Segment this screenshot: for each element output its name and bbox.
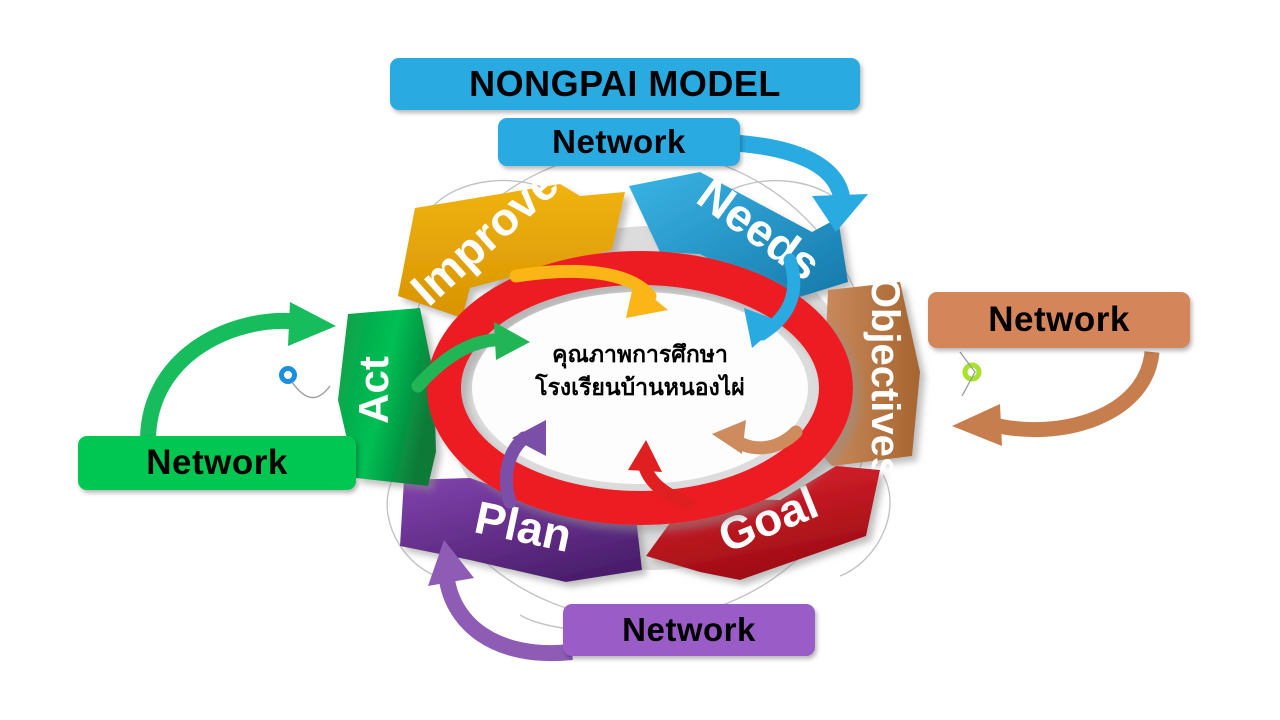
network-label-right[interactable]: Network — [928, 292, 1190, 348]
network-left-marker-dot — [282, 369, 295, 382]
network-label-bottom[interactable]: Network — [563, 604, 815, 656]
nongpai-model-diagram: Improve Needs Objectives Goal Plan Act — [0, 0, 1280, 720]
network-bottom-connector — [428, 540, 572, 653]
network-label-left[interactable]: Network — [78, 436, 356, 490]
page-title: NONGPAI MODEL — [390, 58, 860, 110]
network-right-connector — [952, 352, 1152, 446]
network-left-connector — [148, 302, 336, 438]
network-label-top[interactable]: Network — [498, 118, 740, 166]
